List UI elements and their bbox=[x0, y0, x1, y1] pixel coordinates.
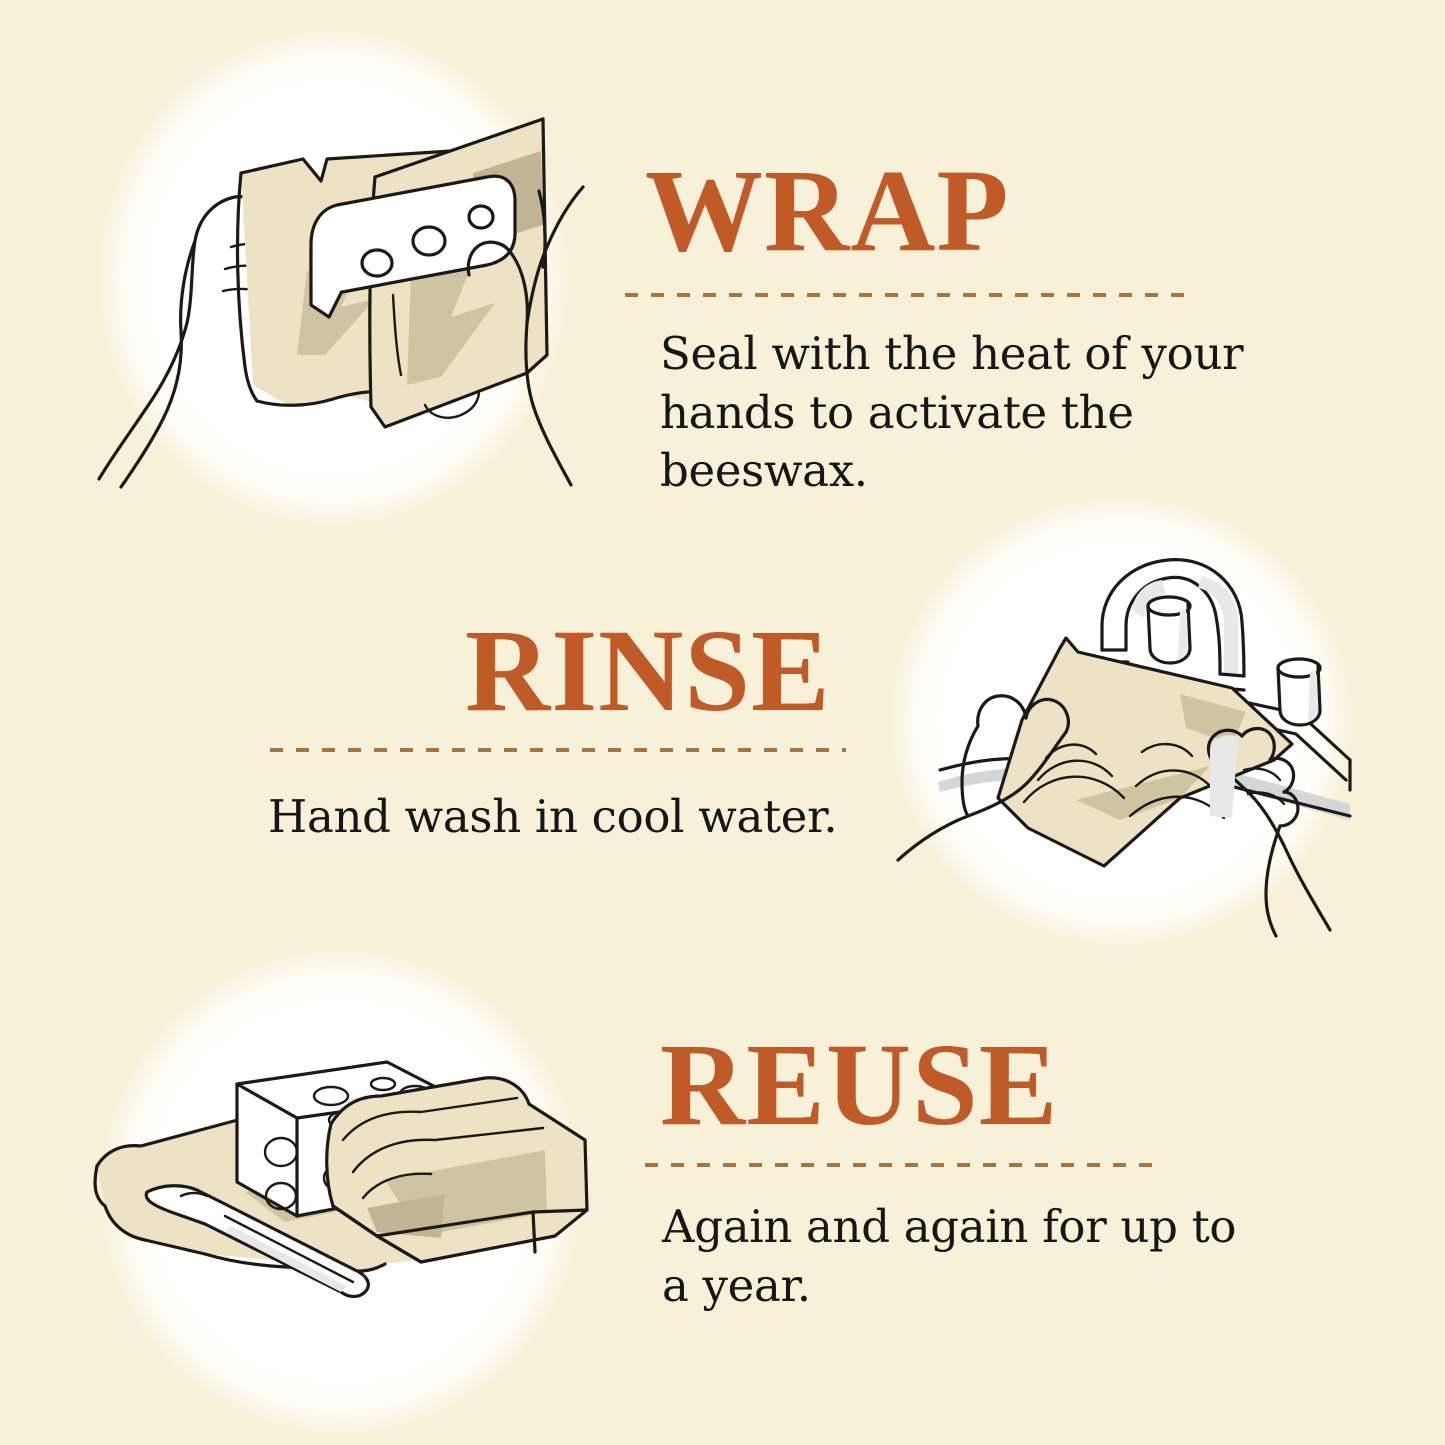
step-divider-rinse bbox=[270, 748, 846, 752]
step-heading-rinse: RINSE bbox=[465, 612, 831, 730]
step-body-wrap: Seal with the heat of your hands to acti… bbox=[660, 325, 1245, 501]
illustration-wrapped-cheese-block bbox=[85, 1000, 615, 1340]
step-body-reuse: Again and again for up to a year. bbox=[662, 1198, 1252, 1315]
step-body-rinse: Hand wash in cool water. bbox=[268, 788, 868, 847]
illustration-hands-rinsing-wrap bbox=[880, 498, 1360, 948]
step-heading-reuse: REUSE bbox=[660, 1026, 1058, 1144]
illustration-hands-wrapping-sandwich bbox=[75, 55, 595, 505]
step-divider-wrap bbox=[625, 293, 1197, 297]
step-divider-reuse bbox=[645, 1163, 1161, 1167]
step-heading-wrap: WRAP bbox=[645, 152, 1010, 270]
infographic-canvas: WRAP Seal with the heat of your hands to… bbox=[0, 0, 1445, 1445]
